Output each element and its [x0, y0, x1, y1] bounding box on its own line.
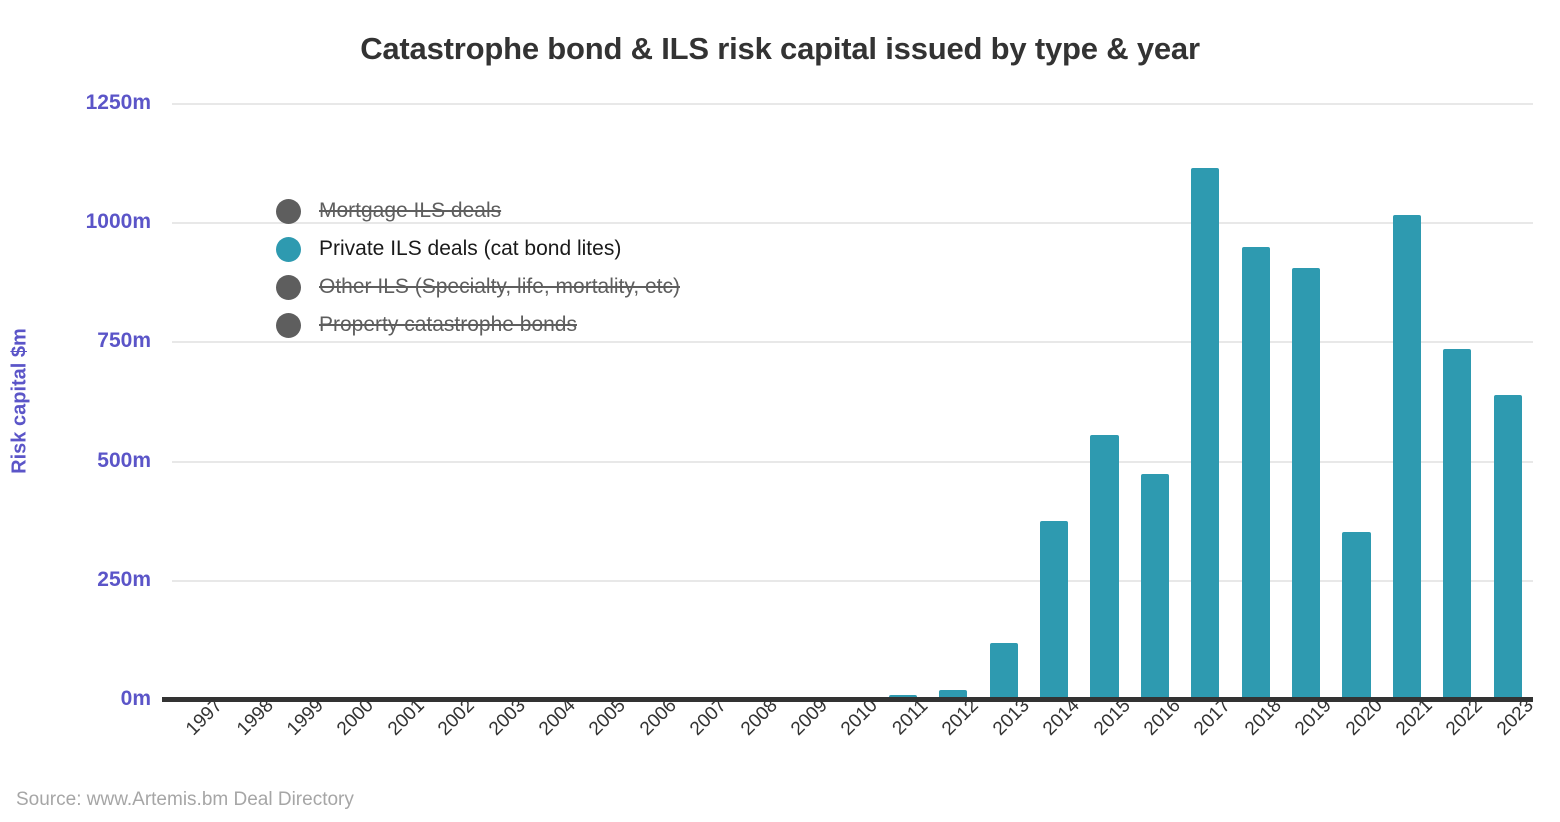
x-slot: 2013 [979, 706, 1029, 786]
x-slot: 2003 [474, 706, 524, 786]
legend-marker-circle-icon [276, 237, 301, 262]
legend-item[interactable]: Other ILS (Specialty, life, mortality, e… [276, 268, 680, 306]
bar-slot [777, 103, 827, 699]
bar[interactable] [1191, 168, 1219, 699]
legend-marker-circle-icon [276, 199, 301, 224]
x-slot: 2019 [1281, 706, 1331, 786]
y-tick-label: 0m [121, 687, 151, 711]
legend-item-label: Private ILS deals (cat bond lites) [319, 237, 621, 261]
y-tick-label: 1250m [86, 91, 151, 115]
bar-slot [172, 103, 222, 699]
bar[interactable] [990, 643, 1018, 699]
bar-slot [979, 103, 1029, 699]
bar-slot [1029, 103, 1079, 699]
y-tick-label: 250m [97, 568, 151, 592]
x-slot: 2007 [676, 706, 726, 786]
bar-slot [1079, 103, 1129, 699]
bar-slot [1281, 103, 1331, 699]
x-slot: 1998 [222, 706, 272, 786]
x-slot: 2004 [525, 706, 575, 786]
bar-slot [928, 103, 978, 699]
legend-item[interactable]: Private ILS deals (cat bond lites) [276, 230, 680, 268]
bar-slot [726, 103, 776, 699]
x-slot: 2020 [1331, 706, 1381, 786]
y-axis: Risk capital $m 0m250m500m750m1000m1250m [0, 0, 172, 822]
x-slot: 2010 [827, 706, 877, 786]
x-slot: 2002 [424, 706, 474, 786]
bar[interactable] [1342, 532, 1370, 699]
bar[interactable] [1292, 268, 1320, 699]
bar-slot [676, 103, 726, 699]
x-slot: 2001 [374, 706, 424, 786]
chart-legend: Mortgage ILS dealsPrivate ILS deals (cat… [276, 192, 680, 344]
bar[interactable] [1040, 521, 1068, 699]
chart-container: Catastrophe bond & ILS risk capital issu… [0, 0, 1560, 822]
x-slot: 2012 [928, 706, 978, 786]
x-slot: 2009 [777, 706, 827, 786]
x-axis: 1997199819992000200120022003200420052006… [172, 706, 1533, 786]
legend-marker-circle-icon [276, 275, 301, 300]
bar[interactable] [1090, 435, 1118, 699]
bar[interactable] [1443, 349, 1471, 699]
chart-title: Catastrophe bond & ILS risk capital issu… [0, 31, 1560, 67]
x-slot: 2023 [1483, 706, 1533, 786]
x-slot: 2008 [726, 706, 776, 786]
bar-slot [1483, 103, 1533, 699]
bar-slot [222, 103, 272, 699]
x-slot: 2006 [626, 706, 676, 786]
x-tick-label: 2011 [888, 696, 932, 740]
bar-slot [1231, 103, 1281, 699]
bar-slot [878, 103, 928, 699]
bar[interactable] [1141, 474, 1169, 699]
bar[interactable] [1393, 215, 1421, 699]
x-slot: 1999 [273, 706, 323, 786]
legend-item[interactable]: Mortgage ILS deals [276, 192, 680, 230]
bar-slot [1382, 103, 1432, 699]
source-note: Source: www.Artemis.bm Deal Directory [16, 789, 354, 811]
legend-item[interactable]: Property catastrophe bonds [276, 306, 680, 344]
y-tick-label: 1000m [86, 210, 151, 234]
x-slot: 2022 [1432, 706, 1482, 786]
legend-item-label: Property catastrophe bonds [319, 313, 577, 337]
bar-slot [1180, 103, 1230, 699]
x-slot: 2000 [323, 706, 373, 786]
legend-item-label: Mortgage ILS deals [319, 199, 501, 223]
x-slot: 2021 [1382, 706, 1432, 786]
x-slot: 2014 [1029, 706, 1079, 786]
y-axis-title: Risk capital $m [9, 328, 32, 474]
x-slot: 2015 [1079, 706, 1129, 786]
bar[interactable] [1242, 247, 1270, 699]
x-slot: 1997 [172, 706, 222, 786]
legend-item-label: Other ILS (Specialty, life, mortality, e… [319, 275, 680, 299]
x-slot: 2005 [575, 706, 625, 786]
x-slot: 2011 [878, 706, 928, 786]
bar-slot [827, 103, 877, 699]
y-tick-label: 500m [97, 449, 151, 473]
bar-slot [1331, 103, 1381, 699]
legend-marker-circle-icon [276, 313, 301, 338]
x-slot: 2018 [1231, 706, 1281, 786]
x-slot: 2017 [1180, 706, 1230, 786]
y-tick-label: 750m [97, 329, 151, 353]
bar-slot [1130, 103, 1180, 699]
bar-slot [1432, 103, 1482, 699]
x-slot: 2016 [1130, 706, 1180, 786]
bar[interactable] [1494, 395, 1522, 699]
